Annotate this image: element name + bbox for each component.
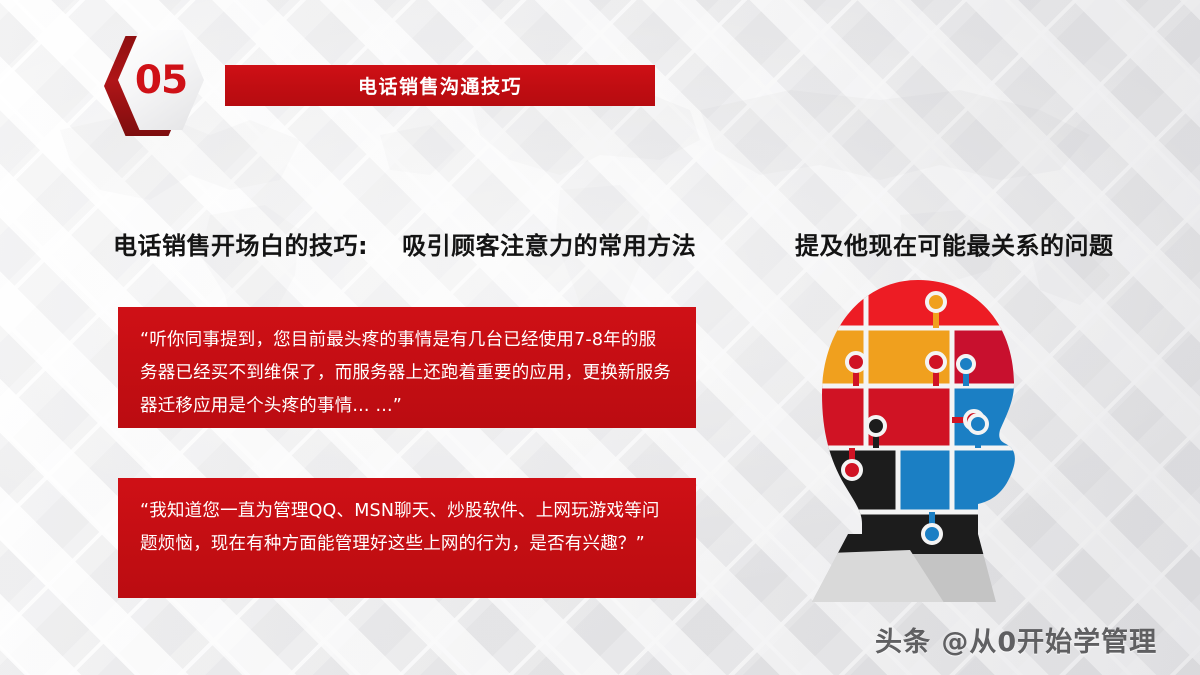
section-title-bar: 电话销售沟通技巧 (225, 65, 655, 106)
channel-watermark: 头条 @从0开始学管理 (875, 620, 1157, 659)
heading-right: 提及他现在可能最关系的问题 (795, 226, 1114, 261)
quote-box-1: “听你同事提到，您目前最头疼的事情是有几台已经使用7‑8年的服务器已经买不到维保… (118, 307, 696, 428)
heading-middle: 吸引顾客注意力的常用方法 (402, 226, 696, 261)
puzzle-head-graphic (800, 272, 1070, 610)
section-title-label: 电话销售沟通技巧 (358, 72, 522, 99)
section-number-label: 05 (135, 61, 187, 100)
heading-left: 电话销售开场白的技巧: (113, 226, 368, 261)
headings-left-group: 电话销售开场白的技巧: 吸引顾客注意力的常用方法 (113, 226, 696, 261)
section-number-badge: 05 (104, 30, 204, 142)
quote-box-2: “我知道您一直为管理QQ、MSN聊天、炒股软件、上网玩游戏等问题烦恼，现在有种方… (118, 478, 696, 598)
puzzle-piece-blue-face (898, 448, 1070, 512)
slide-canvas: 05 电话销售沟通技巧 电话销售开场白的技巧: 吸引顾客注意力的常用方法 提及他… (0, 0, 1200, 675)
